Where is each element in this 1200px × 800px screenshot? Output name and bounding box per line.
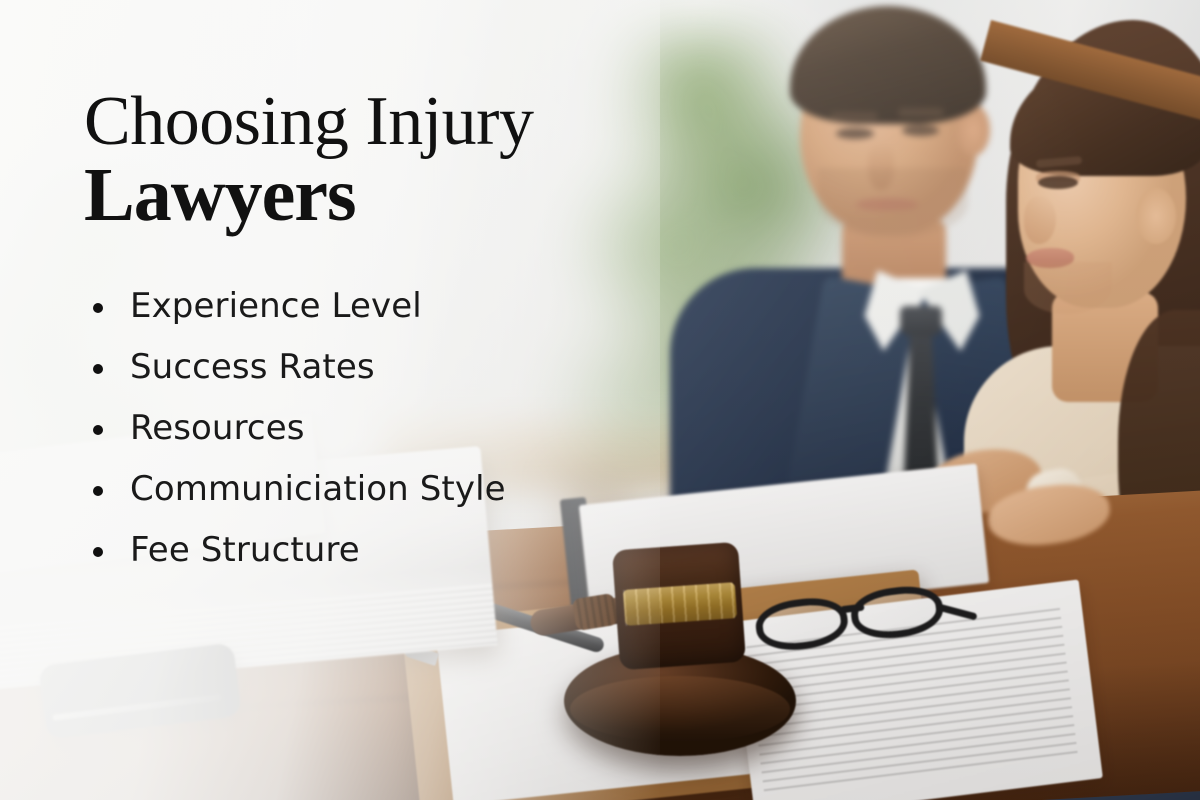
title-line-2: Lawyers xyxy=(84,156,644,234)
list-item: Resources xyxy=(84,408,644,449)
client-ear xyxy=(1136,188,1176,244)
bullet-dot-icon xyxy=(93,303,103,313)
list-item: Experience Level xyxy=(84,286,644,327)
title-line-1: Choosing Injury xyxy=(84,86,644,158)
list-item-label: Fee Structure xyxy=(130,530,360,570)
lawyer-eye-left xyxy=(836,128,874,139)
lawyer-tie-knot xyxy=(900,306,942,336)
lawyer-eyebrow-right xyxy=(898,108,944,117)
bullet-dot-icon xyxy=(93,486,103,496)
lawyer-eye-right xyxy=(902,125,939,136)
client-eye xyxy=(1038,176,1078,189)
list-item-label: Resources xyxy=(130,408,305,448)
list-item: Success Rates xyxy=(84,347,644,388)
lawyer-eyebrow-left xyxy=(830,112,878,121)
list-item-label: Communiciation Style xyxy=(130,469,506,509)
eyeglasses-lens-left xyxy=(753,594,850,655)
criteria-list: Experience Level Success Rates Resources… xyxy=(84,286,644,591)
bullet-dot-icon xyxy=(93,547,103,557)
bullet-dot-icon xyxy=(93,364,103,374)
bullet-dot-icon xyxy=(93,425,103,435)
lawyer-mouth xyxy=(856,198,918,211)
poster-canvas: Choosing Injury Lawyers Experience Level… xyxy=(0,0,1200,800)
list-item: Fee Structure xyxy=(84,530,644,571)
list-item: Communiciation Style xyxy=(84,469,644,510)
eyeglasses-lens-right xyxy=(848,582,945,643)
page-title: Choosing Injury Lawyers xyxy=(84,86,644,234)
list-item-label: Experience Level xyxy=(130,286,422,326)
text-content: Choosing Injury Lawyers Experience Level… xyxy=(0,0,660,800)
list-item-label: Success Rates xyxy=(130,347,375,387)
